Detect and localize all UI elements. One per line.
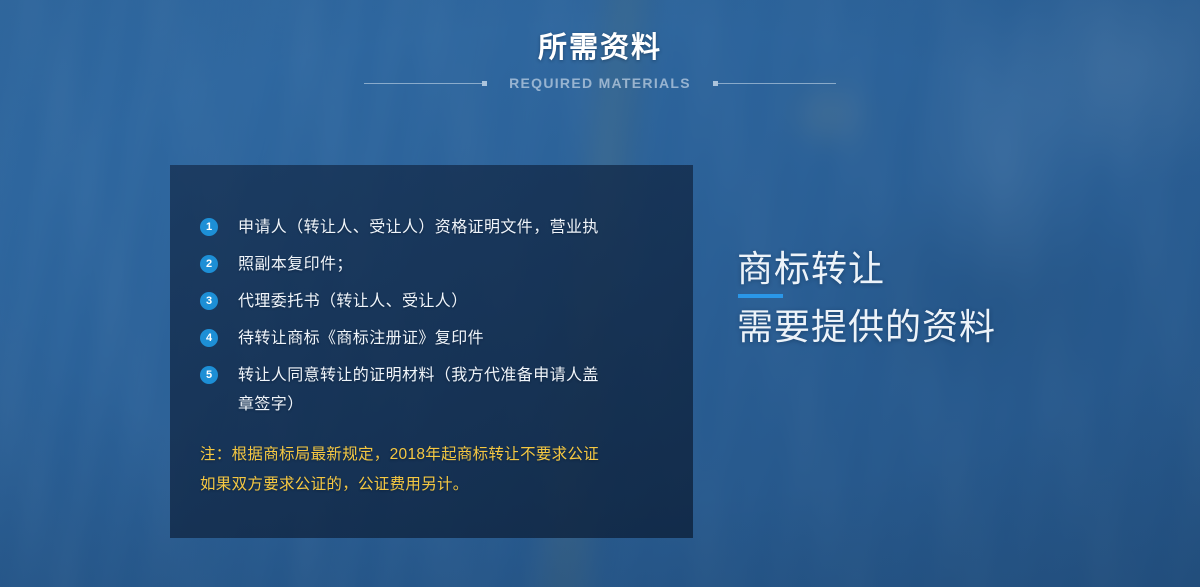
list-item: 2 照副本复印件；	[200, 250, 670, 287]
section-header: 所需资料 REQUIRED MATERIALS	[0, 28, 1200, 92]
right-heading-line2: 需要提供的资料	[737, 304, 1137, 350]
list-item-label: 转让人同意转让的证明材料（我方代准备申请人盖 章签字）	[238, 361, 599, 419]
divider-line-left	[364, 83, 482, 84]
list-item-line: 照副本复印件；	[238, 250, 353, 279]
banner-stage: 所需资料 REQUIRED MATERIALS 1 申请人（转让人、受让人）资格…	[0, 0, 1200, 587]
list-item-line: 申请人（转让人、受让人）资格证明文件，营业执	[238, 213, 599, 242]
list-item-number-badge: 4	[200, 329, 218, 347]
list-item-number-badge: 3	[200, 292, 218, 310]
panel-note-line: 注：根据商标局最新规定，2018年起商标转让不要求公证	[200, 440, 670, 470]
list-item-label: 待转让商标《商标注册证》复印件	[238, 324, 484, 353]
list-item-line: 章签字）	[238, 390, 599, 419]
divider-line-right	[718, 83, 836, 84]
list-item-number-badge: 1	[200, 218, 218, 236]
list-item-number-badge: 5	[200, 366, 218, 384]
materials-list: 1 申请人（转让人、受让人）资格证明文件，营业执 2 照副本复印件； 3 代理委…	[200, 213, 670, 419]
panel-note: 注：根据商标局最新规定，2018年起商标转让不要求公证 如果双方要求公证的，公证…	[200, 440, 670, 500]
list-item-line: 转让人同意转让的证明材料（我方代准备申请人盖	[238, 361, 599, 390]
panel-note-line: 如果双方要求公证的，公证费用另计。	[200, 470, 670, 500]
list-item-number-badge: 2	[200, 255, 218, 273]
list-item-label: 代理委托书（转让人、受让人）	[238, 287, 468, 316]
subtitle-row: REQUIRED MATERIALS	[0, 74, 1200, 92]
list-item: 5 转让人同意转让的证明材料（我方代准备申请人盖 章签字）	[200, 361, 670, 419]
list-item: 3 代理委托书（转让人、受让人）	[200, 287, 670, 324]
list-item: 4 待转让商标《商标注册证》复印件	[200, 324, 670, 361]
list-item-label: 照副本复印件；	[238, 250, 353, 279]
right-heading-block: 商标转让 需要提供的资料	[737, 247, 1137, 350]
list-item: 1 申请人（转让人、受让人）资格证明文件，营业执	[200, 213, 670, 250]
list-item-line: 待转让商标《商标注册证》复印件	[238, 324, 484, 353]
list-item-line: 代理委托书（转让人、受让人）	[238, 287, 468, 316]
right-heading-line1: 商标转让	[737, 247, 1137, 291]
list-item-label: 申请人（转让人、受让人）资格证明文件，营业执	[238, 213, 599, 242]
page-subtitle: REQUIRED MATERIALS	[487, 74, 713, 92]
page-title: 所需资料	[0, 28, 1200, 68]
materials-panel: 1 申请人（转让人、受让人）资格证明文件，营业执 2 照副本复印件； 3 代理委…	[170, 165, 693, 538]
heading-accent-bar	[738, 294, 783, 298]
